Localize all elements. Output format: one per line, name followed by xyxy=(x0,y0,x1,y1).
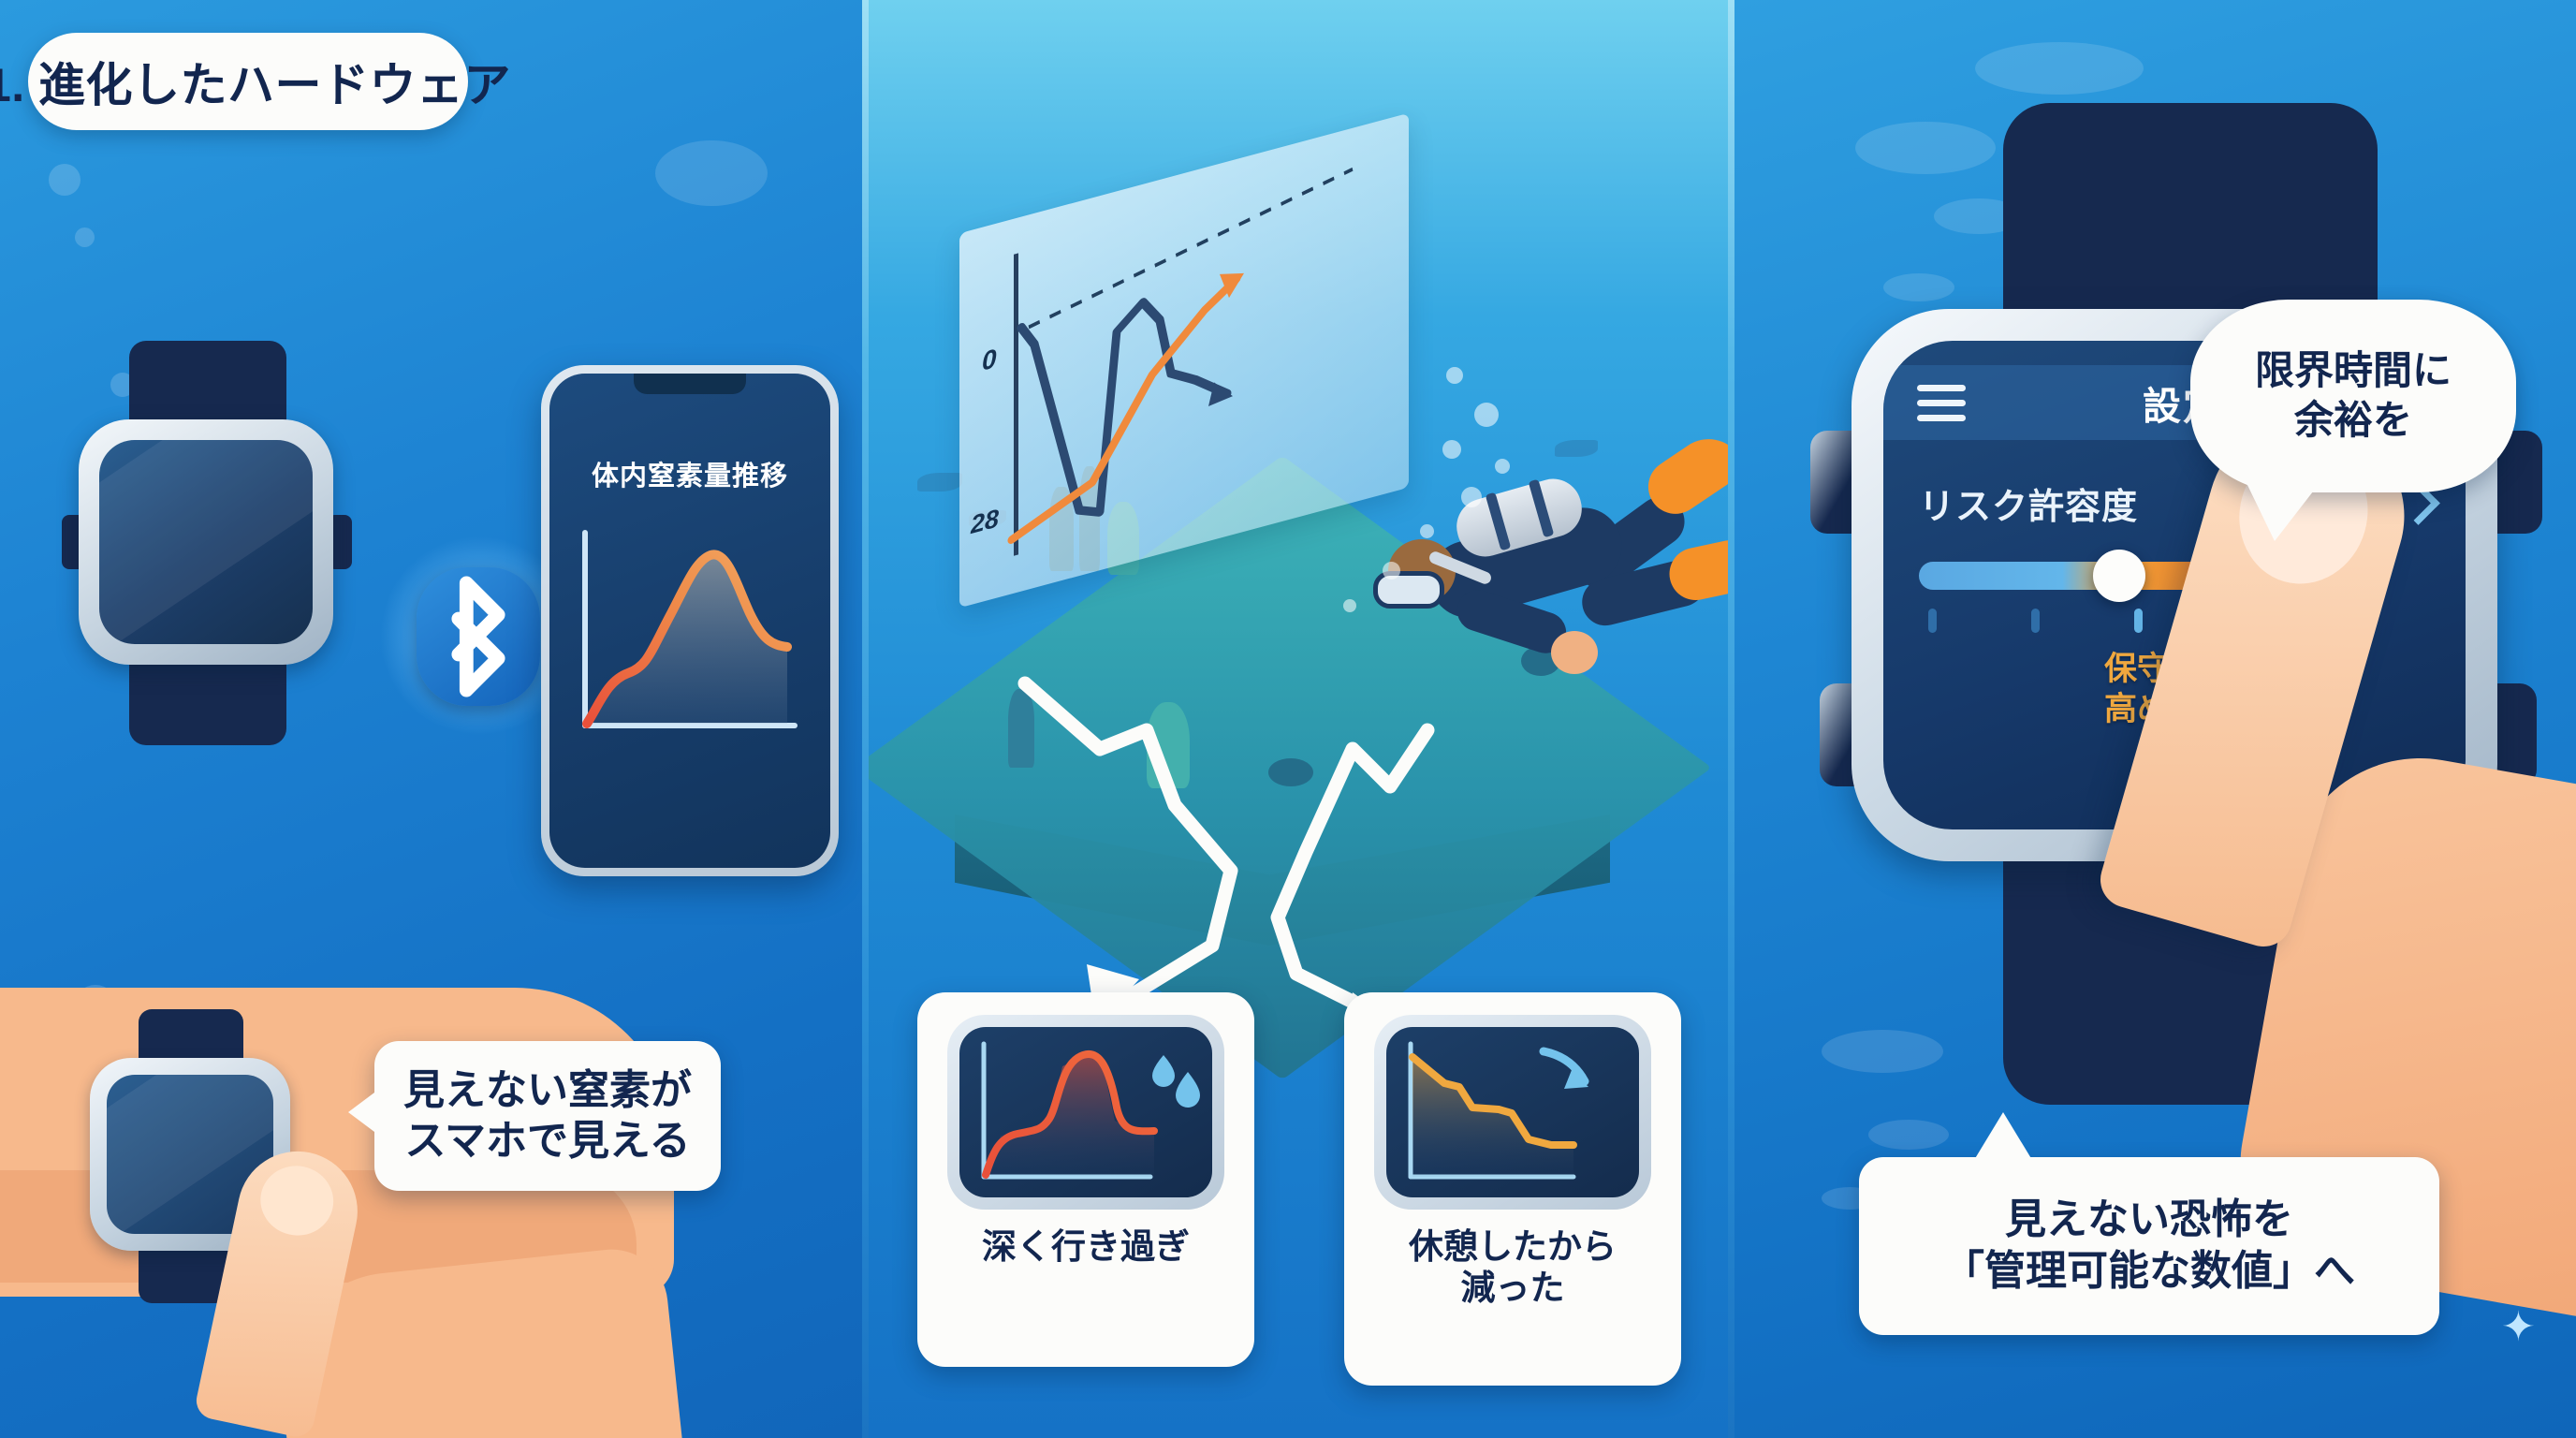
bubble-decor xyxy=(1461,487,1482,507)
mini-device-bezel xyxy=(947,1015,1224,1210)
bubble-decor xyxy=(75,227,95,247)
slider-tick xyxy=(2031,609,2040,633)
bluetooth-badge xyxy=(417,567,540,706)
bubble-decor xyxy=(1822,1030,1943,1073)
watch-screen xyxy=(99,440,313,644)
coral-icon xyxy=(1008,689,1034,768)
fish-icon xyxy=(917,473,962,492)
card-label-2-line-1: 休憩したから xyxy=(1409,1226,1617,1268)
screen-glare xyxy=(99,440,313,644)
slider-tick xyxy=(2134,609,2143,633)
watch-bezel xyxy=(79,419,333,665)
phone-screen: 体内窒素量推移 xyxy=(549,374,830,868)
bubble-decor xyxy=(49,164,80,196)
sparkle-icon: ✦ xyxy=(2501,1303,2536,1351)
callout-panel3-top: 限界時間に 余裕を xyxy=(2190,300,2516,492)
card-label-1: 深く行き過ぎ xyxy=(982,1226,1190,1268)
panel-1-title-pill: 1. 進化したハードウェア xyxy=(28,33,468,130)
callout-top-line-1: 限界時間に xyxy=(2255,346,2452,396)
diver-hand xyxy=(1551,631,1598,674)
phone-notch xyxy=(634,374,746,394)
bubble-decor xyxy=(1855,122,1996,174)
bubble-decor xyxy=(1975,42,2144,95)
infographic-root: 体内窒素量推移 xyxy=(0,0,2576,1438)
bubble-decor xyxy=(1474,403,1499,427)
callout-bottom-line-2: 「管理可能な数値」へ xyxy=(1943,1246,2355,1298)
panel-divider xyxy=(862,0,869,1438)
rock-icon xyxy=(1268,758,1313,786)
bubble-decor xyxy=(1868,1120,1949,1150)
diver-mask-icon xyxy=(1373,571,1444,609)
bubble-decor xyxy=(1446,367,1463,384)
bubble-decor xyxy=(1442,440,1461,459)
bubble-decor xyxy=(1495,459,1510,474)
risk-card-deep[interactable]: 深く行き過ぎ xyxy=(917,992,1254,1367)
rising-nitrogen-curve-icon xyxy=(959,1027,1212,1197)
nitrogen-trend-chart xyxy=(549,495,830,776)
card-label-2-line-2: 減った xyxy=(1409,1268,1617,1309)
callout-tail xyxy=(1971,1112,2035,1165)
mini-device-bezel xyxy=(1374,1015,1651,1210)
dive-watch-illustration xyxy=(56,374,356,712)
phone-chart-title: 体内窒素量推移 xyxy=(549,454,830,493)
callout-tail xyxy=(348,1090,378,1135)
risk-card-rest[interactable]: 休憩したから 減った xyxy=(1344,992,1681,1386)
bluetooth-glyph xyxy=(417,567,540,706)
hamburger-menu-icon[interactable] xyxy=(1917,385,1966,421)
panel-1-title: 1. 進化したハードウェア xyxy=(0,48,511,115)
callout-panel1: 見えない窒素が スマホで見える xyxy=(374,1041,721,1191)
coral-icon xyxy=(1147,702,1190,788)
card-label-2: 休憩したから 減った xyxy=(1409,1226,1617,1310)
risk-tolerance-label: リスク許容度 xyxy=(1919,477,2138,529)
callout-panel3-bottom: 見えない恐怖を 「管理可能な数値」へ xyxy=(1859,1157,2439,1335)
callout-tail xyxy=(2247,483,2320,541)
fingernail xyxy=(254,1159,340,1242)
panel-divider xyxy=(1728,0,1734,1438)
smartphone-illustration: 体内窒素量推移 xyxy=(541,365,839,876)
bubble-decor xyxy=(1383,562,1400,580)
panel-hardware: 体内窒素量推移 xyxy=(0,0,866,1438)
bubble-decor xyxy=(655,140,768,206)
slider-knob[interactable] xyxy=(2093,550,2145,602)
callout-top-line-2: 余裕を xyxy=(2294,396,2412,446)
bubble-decor xyxy=(1343,599,1356,612)
mini-device-screen xyxy=(959,1027,1212,1197)
bubble-decor xyxy=(1420,524,1434,538)
mini-device-screen xyxy=(1386,1027,1639,1197)
callout-bottom-line-1: 見えない恐怖を xyxy=(2005,1195,2293,1246)
callout-line-2: スマホで見える xyxy=(404,1116,690,1167)
falling-nitrogen-curve-icon xyxy=(1386,1027,1639,1197)
scuba-diver-icon xyxy=(1315,403,1718,712)
callout-line-1: 見えない窒素が xyxy=(403,1065,692,1116)
slider-tick xyxy=(1928,609,1937,633)
